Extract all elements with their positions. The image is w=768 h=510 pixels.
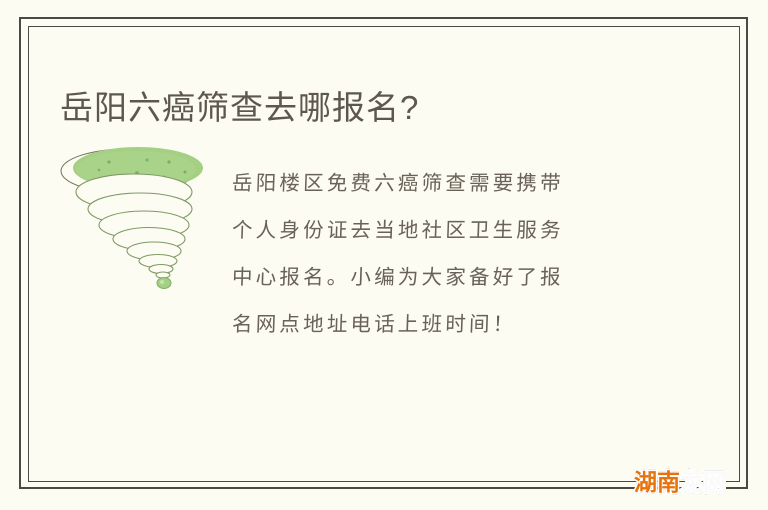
page-title: 岳阳六癌筛查去哪报名? <box>60 88 419 128</box>
watermark-text-orange: 湖南 <box>634 470 680 496</box>
article-card: 岳阳六癌筛查去哪报名? <box>0 0 768 510</box>
tornado-icon <box>52 140 217 300</box>
site-watermark: 湖南龙网 湖南龙网 <box>634 468 726 498</box>
body-line: 岳阳楼区免费六癌筛查需要携带 <box>231 160 658 207</box>
body-line: 个人身份证去当地社区卫生服务 <box>231 207 658 254</box>
watermark-text-white: 龙网 <box>680 470 726 496</box>
body-line: 中心报名。小编为大家备好了报 <box>231 254 658 301</box>
article-body: 岳阳楼区免费六癌筛查需要携带 个人身份证去当地社区卫生服务 中心报名。小编为大家… <box>232 160 657 348</box>
body-line: 名网点地址电话上班时间！ <box>231 301 658 348</box>
watermark-text: 湖南龙网 <box>634 470 726 496</box>
